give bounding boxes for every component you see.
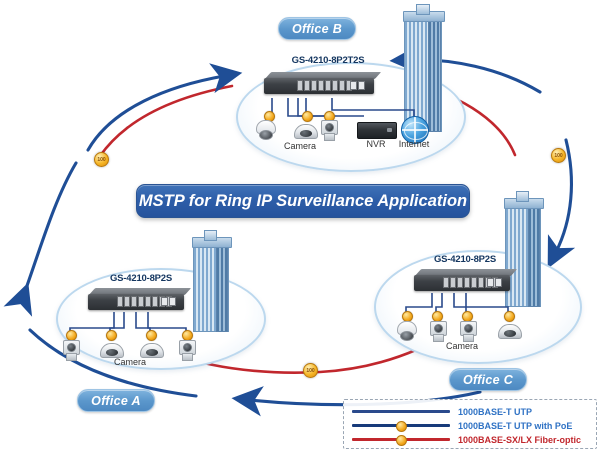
office-a-camera-caption: Camera: [100, 357, 160, 367]
office-a-switch-model: GS-4210-8P2S: [76, 273, 206, 284]
poe-badge: [504, 311, 515, 322]
office-b-camera-caption: Camera: [272, 141, 328, 151]
office-b-nvr: [357, 122, 395, 137]
office-b-label: Office B: [278, 17, 356, 40]
office-c-switch-model: GS-4210-8P2S: [400, 254, 530, 265]
network-diagram: MSTP for Ring IP Surveillance Applicatio…: [0, 0, 603, 451]
office-b-dome-camera: [294, 124, 318, 139]
legend-line-utp-poe: [352, 419, 450, 432]
legend-item-utp: 1000BASE-T UTP: [352, 405, 532, 418]
office-a-dome-camera-2: [140, 343, 164, 358]
fiber-badge-icon: [396, 435, 407, 446]
legend-item-fiber: 1000BASE-SX/LX Fiber-optic: [352, 433, 581, 446]
office-a-box-camera-1: [63, 340, 78, 360]
poe-badge-icon: [396, 421, 407, 432]
office-b-ptz-camera: [255, 120, 275, 140]
page-title: MSTP for Ring IP Surveillance Applicatio…: [136, 184, 470, 218]
office-b-box-camera: [321, 120, 336, 140]
legend-item-utp-poe: 1000BASE-T UTP with PoE: [352, 419, 572, 432]
office-a-box-camera-2: [179, 340, 194, 360]
legend-line-fiber: [352, 433, 450, 446]
office-c-box-camera-2: [460, 321, 475, 341]
poe-badge: [146, 330, 157, 341]
office-b-internet-label: Internet: [388, 139, 440, 149]
office-a-label: Office A: [77, 389, 155, 412]
legend-label-utp: 1000BASE-T UTP: [458, 407, 532, 417]
legend-label-utp-poe: 1000BASE-T UTP with PoE: [458, 421, 572, 431]
office-c-dome-camera: [498, 324, 522, 339]
office-a-dome-camera-1: [100, 343, 124, 358]
fiber-connector-south: 100: [303, 363, 318, 378]
fiber-connector-west: 100: [94, 152, 109, 167]
office-c-camera-caption: Camera: [432, 341, 492, 351]
fiber-connector-east: 100: [551, 148, 566, 163]
office-a-drop-links: [56, 306, 262, 342]
office-b-switch-model: GS-4210-8P2T2S: [253, 55, 403, 66]
legend: 1000BASE-T UTP 1000BASE-T UTP with PoE 1…: [343, 399, 597, 449]
poe-badge: [106, 330, 117, 341]
office-c-ptz-camera: [396, 321, 416, 341]
legend-label-fiber: 1000BASE-SX/LX Fiber-optic: [458, 435, 581, 445]
legend-line-utp: [352, 405, 450, 418]
office-c-box-camera-1: [430, 321, 445, 341]
poe-badge: [302, 111, 313, 122]
office-c-label: Office C: [449, 368, 527, 391]
